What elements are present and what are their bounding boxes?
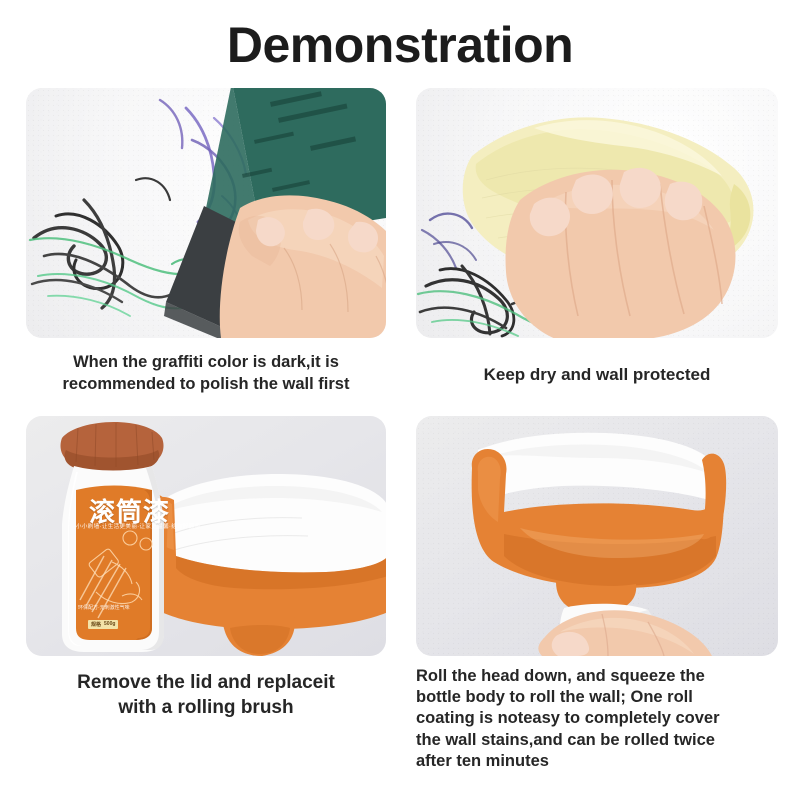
hand (220, 195, 386, 338)
step-card-1: When the graffiti color is dark,it is re… (0, 88, 400, 396)
step-card-3: 滚筒漆 小小刷墙·让生活更美丽·让家更温馨·给你好颜色 环保配方·无刺激性气味 … (0, 416, 400, 773)
step-4-photo (416, 416, 778, 656)
steps-row-bottom: 滚筒漆 小小刷墙·让生活更美丽·让家更温馨·给你好颜色 环保配方·无刺激性气味 … (0, 416, 800, 773)
caption-line: recommended to polish the wall first (28, 374, 384, 396)
step-2-photo (416, 88, 778, 338)
caption-line: with a rolling brush (26, 695, 386, 721)
roller-on-wall-and-hand (416, 416, 778, 656)
step-card-4: Roll the head down, and squeeze the bott… (400, 416, 800, 773)
product-label-footer: 环保配方·无刺激性气味 (78, 604, 130, 611)
product-label-tagline: 小小刷墙·让生活更美丽·让家更温馨·给你好颜色 (76, 522, 201, 530)
step-3-caption: Remove the lid and replaceit with a roll… (26, 656, 386, 721)
paint-bottle (61, 422, 165, 652)
step-card-2: Keep dry and wall protected (400, 88, 800, 396)
cloth-and-hand (416, 88, 778, 338)
infographic-page: Demonstration (0, 0, 800, 800)
caption-line: Roll the head down, and squeeze the (416, 666, 778, 687)
badge-spec-label: 规格 (91, 621, 101, 628)
caption-line: Keep dry and wall protected (418, 364, 776, 386)
sanding-block-and-hand (26, 88, 386, 338)
caption-line: the wall stains,and can be rolled twice (416, 730, 778, 751)
steps-grid: When the graffiti color is dark,it is re… (0, 88, 800, 773)
step-1-photo (26, 88, 386, 338)
step-2-caption: Keep dry and wall protected (416, 338, 778, 386)
step-4-caption: Roll the head down, and squeeze the bott… (416, 656, 778, 773)
caption-line: after ten minutes (416, 751, 778, 772)
hand-and-bottle (538, 603, 712, 655)
caption-line: bottle body to roll the wall; One roll (416, 687, 778, 708)
bottle-and-roller (26, 416, 386, 656)
caption-line: coating is noteasy to completely cover (416, 708, 778, 729)
page-title: Demonstration (0, 0, 800, 78)
steps-row-top: When the graffiti color is dark,it is re… (0, 88, 800, 396)
caption-line: When the graffiti color is dark,it is (28, 352, 384, 374)
step-3-photo: 滚筒漆 小小刷墙·让生活更美丽·让家更温馨·给你好颜色 环保配方·无刺激性气味 … (26, 416, 386, 656)
product-label-badge: 规格 500g (88, 620, 118, 629)
step-1-caption: When the graffiti color is dark,it is re… (26, 338, 386, 396)
caption-line: Remove the lid and replaceit (26, 670, 386, 696)
badge-weight: 500g (104, 621, 115, 628)
